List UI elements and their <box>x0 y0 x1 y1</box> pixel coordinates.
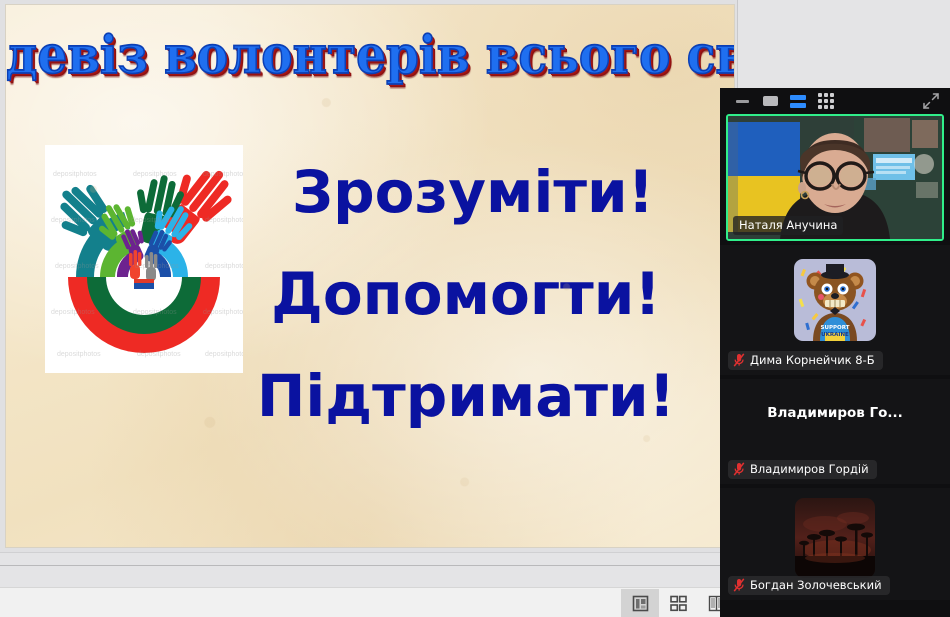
notes-pane[interactable] <box>0 552 737 587</box>
participant-name: Дима Корнейчик 8-Б <box>750 353 875 367</box>
notes-input-area[interactable] <box>0 565 737 589</box>
maximize-icon <box>763 96 778 106</box>
muted-mic-icon <box>733 353 745 367</box>
active-speaker-name: Наталя Анучина <box>733 216 843 235</box>
participant-name-badge: Владимиров Гордій <box>728 460 877 479</box>
svg-text:SUPPORT: SUPPORT <box>821 325 850 331</box>
status-bar <box>0 587 737 617</box>
participant-display-name: Владимиров Го... <box>720 405 950 421</box>
slide-line-3: Підтримати! <box>206 345 726 447</box>
view-button-group <box>621 588 735 617</box>
dark-landscape-avatar-svg <box>795 498 875 578</box>
gallery-view-icon <box>818 93 834 109</box>
slide[interactable]: девіз волонтерів всього світу <box>5 4 735 548</box>
minimize-button[interactable] <box>731 92 753 110</box>
participant-tile[interactable]: SUPPORT UKRAINE <box>720 245 950 375</box>
zoom-meeting-window[interactable]: Наталя Анучина SUPPORT UKRAINE <box>720 88 950 617</box>
gallery-view-button[interactable] <box>815 92 837 110</box>
minimize-icon <box>736 100 749 103</box>
slide-sorter-icon <box>670 595 687 612</box>
participant-tile[interactable]: Владимиров Го... Владимиров Гордій <box>720 379 950 484</box>
muted-mic-icon <box>733 462 745 476</box>
normal-view-button[interactable] <box>621 589 659 617</box>
screen: девіз волонтерів всього світу <box>0 0 950 617</box>
slide-line-1: Зрозуміти! <box>206 141 726 243</box>
expand-fullscreen-button[interactable] <box>922 92 940 110</box>
participant-name: Владимиров Гордій <box>750 462 869 476</box>
muted-mic-icon <box>733 578 745 592</box>
participant-name: Богдан Золочевський <box>750 578 882 592</box>
speaker-view-button[interactable] <box>787 92 809 110</box>
participant-tile[interactable]: Богдан Золочевський <box>720 488 950 600</box>
participant-name-badge: Дима Корнейчик 8-Б <box>728 351 883 370</box>
slide-body-text: Зрозуміти! Допомогти! Підтримати! <box>206 141 726 447</box>
maximize-button[interactable] <box>759 92 781 110</box>
participant-avatar <box>795 498 875 578</box>
svg-text:UKRAINE: UKRAINE <box>821 332 849 338</box>
active-speaker-tile[interactable]: Наталя Анучина <box>726 114 944 241</box>
zoom-window-toolbar <box>720 88 950 114</box>
slide-line-2: Допомогти! <box>206 243 726 345</box>
slide-title-wordart: девіз волонтерів всього світу <box>6 28 735 83</box>
participant-name-badge: Богдан Золочевський <box>728 576 890 595</box>
participant-avatar: SUPPORT UKRAINE <box>794 259 876 341</box>
slide-sorter-view-button[interactable] <box>659 589 697 617</box>
normal-view-icon <box>632 595 649 612</box>
slide-canvas-area: девіз волонтерів всього світу <box>0 0 738 552</box>
expand-icon <box>922 92 940 110</box>
speaker-view-icon <box>790 95 806 108</box>
freddy-support-ukraine-avatar-svg: SUPPORT UKRAINE <box>794 259 876 341</box>
window-controls <box>720 92 837 110</box>
